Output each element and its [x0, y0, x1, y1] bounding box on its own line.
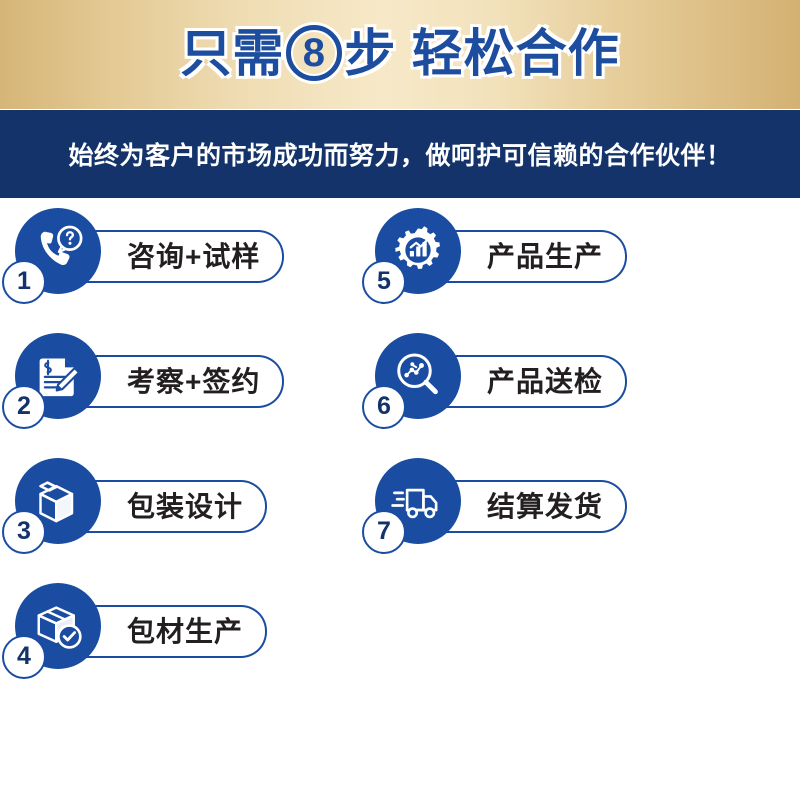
step-5-label-box[interactable]: 产品生产 — [445, 230, 627, 283]
header-gold-banner: 只需8步 轻松合作 — [0, 0, 800, 109]
infographic-page: 只需8步 轻松合作 始终为客户的市场成功而努力，做呵护可信赖的合作伙伴！ 咨询+… — [0, 0, 800, 795]
step-2-label-box[interactable]: 考察+签约 — [85, 355, 284, 408]
steps-column-right: 产品生产 — [360, 198, 760, 573]
step-1-number: 1 — [17, 269, 31, 296]
header-navy-banner: 始终为客户的市场成功而努力，做呵护可信赖的合作伙伴！ — [0, 110, 800, 198]
step-1-label-box[interactable]: 咨询+试样 — [85, 230, 284, 283]
step-2-label: 考察+签约 — [127, 368, 260, 396]
step-1-number-badge: 1 — [2, 260, 46, 304]
step-5-number: 5 — [377, 269, 391, 296]
step-3-label-box[interactable]: 包装设计 — [85, 480, 267, 533]
step-6-number: 6 — [377, 394, 391, 421]
title-number: 8 — [286, 25, 342, 81]
step-item-2[interactable]: 考察+签约 — [0, 323, 400, 448]
step-4-label: 包材生产 — [127, 618, 243, 646]
step-4-number-badge: 4 — [2, 635, 46, 679]
step-item-3[interactable]: 包装设计 3 — [0, 448, 400, 573]
step-6-label: 产品送检 — [487, 368, 603, 396]
step-4-number: 4 — [17, 644, 31, 671]
step-4-icon-wrap: 4 — [0, 573, 110, 673]
step-item-7[interactable]: 结算发货 — [360, 448, 760, 573]
step-3-icon-wrap: 3 — [0, 448, 110, 548]
title-suffix: 步 轻松合作 — [344, 25, 619, 82]
step-7-label: 结算发货 — [487, 493, 603, 521]
step-6-icon-wrap: 6 — [360, 323, 470, 423]
step-3-label: 包装设计 — [127, 493, 243, 521]
step-6-label-box[interactable]: 产品送检 — [445, 355, 627, 408]
step-3-number-badge: 3 — [2, 510, 46, 554]
step-item-5[interactable]: 产品生产 — [360, 198, 760, 323]
step-4-label-box[interactable]: 包材生产 — [85, 605, 267, 658]
step-7-number: 7 — [377, 519, 391, 546]
step-5-label: 产品生产 — [487, 243, 603, 271]
step-5-icon-wrap: 5 — [360, 198, 470, 298]
step-6-number-badge: 6 — [362, 385, 406, 429]
step-item-6[interactable]: 产品送检 — [360, 323, 760, 448]
steps-column-left: 咨询+试样 1 — [0, 198, 400, 698]
step-1-label: 咨询+试样 — [127, 243, 260, 271]
step-7-number-badge: 7 — [362, 510, 406, 554]
page-title: 只需8步 轻松合作 — [180, 25, 619, 85]
page-subtitle: 始终为客户的市场成功而努力，做呵护可信赖的合作伙伴！ — [68, 136, 731, 172]
step-2-icon-wrap: 2 — [0, 323, 110, 423]
title-prefix: 只需 — [180, 25, 284, 82]
step-1-icon-wrap: 1 — [0, 198, 110, 298]
step-3-number: 3 — [17, 519, 31, 546]
step-item-4[interactable]: 包材生产 — [0, 573, 400, 698]
step-5-number-badge: 5 — [362, 260, 406, 304]
step-item-1[interactable]: 咨询+试样 1 — [0, 198, 400, 323]
circled-number-icon: 8 — [286, 25, 342, 81]
step-2-number-badge: 2 — [2, 385, 46, 429]
step-2-number: 2 — [17, 394, 31, 421]
step-7-label-box[interactable]: 结算发货 — [445, 480, 627, 533]
step-7-icon-wrap: 7 — [360, 448, 470, 548]
steps-container: 咨询+试样 1 — [0, 198, 800, 795]
